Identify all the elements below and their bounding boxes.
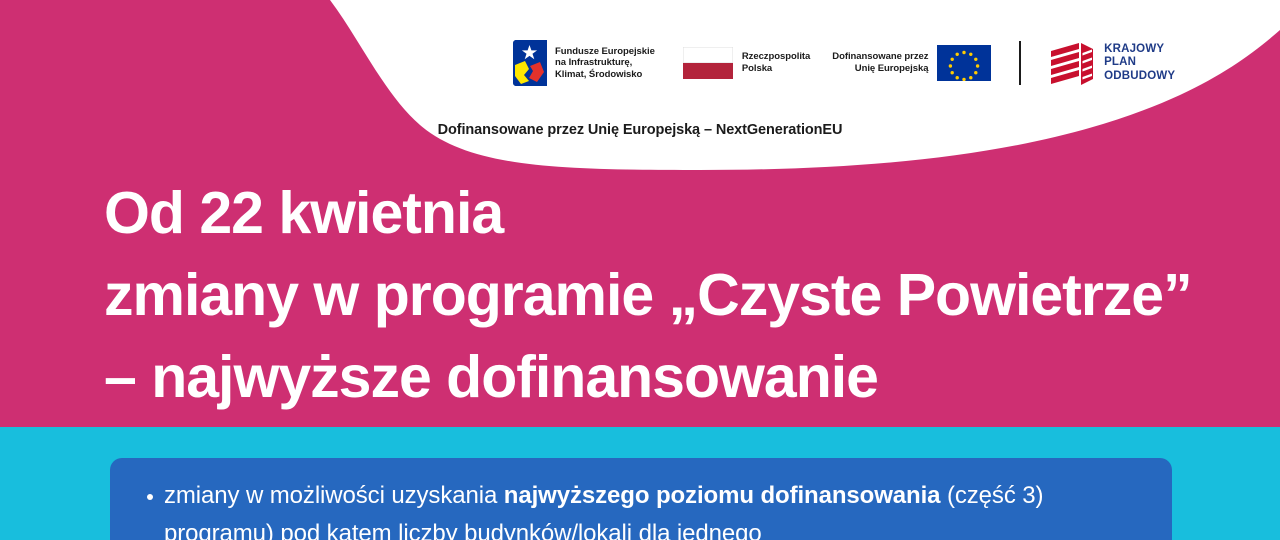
headline-line-2: zmiany w programie „Czyste Powietrze” xyxy=(104,254,1224,336)
polish-flag-icon xyxy=(683,47,733,79)
page-title: Od 22 kwietnia zmiany w programie „Czyst… xyxy=(104,172,1224,418)
bullet-card: zmiany w możliwości uzyskania najwyższeg… xyxy=(110,458,1172,540)
funding-caption: Dofinansowane przez Unię Europejską – Ne… xyxy=(0,122,1280,138)
funding-logo-strip: Fundusze Europejskie na Infrastrukturę, … xyxy=(513,36,1175,90)
logo-fundusze-europejskie-label: Fundusze Europejskie na Infrastrukturę, … xyxy=(555,46,655,81)
logo-divider xyxy=(1019,41,1021,85)
headline-line-1: Od 22 kwietnia xyxy=(104,172,1224,254)
logo-dofinansowane-przez-ue: Dofinansowane przez Unię Europejską xyxy=(832,45,991,81)
fundusze-europejskie-logo-icon xyxy=(513,40,547,86)
bullet-bold-text: najwyższego poziomu dofinansowania xyxy=(504,482,941,509)
eu-flag-icon xyxy=(937,45,991,81)
bullet-list: zmiany w możliwości uzyskania najwyższeg… xyxy=(138,477,1144,540)
krajowy-plan-odbudowy-logo-icon xyxy=(1049,41,1095,85)
logo-krajowy-plan-odbudowy-label: KRAJOWY PLAN ODBUDOWY xyxy=(1104,43,1175,84)
logo-rzeczpospolita-polska-label: Rzeczpospolita Polska xyxy=(742,51,810,74)
bullet-lead-text: zmiany w możliwości uzyskania xyxy=(164,482,504,509)
list-item: zmiany w możliwości uzyskania najwyższeg… xyxy=(138,477,1144,540)
poster-canvas: Fundusze Europejskie na Infrastrukturę, … xyxy=(0,0,1280,540)
logo-dofinansowane-przez-ue-label: Dofinansowane przez Unię Europejską xyxy=(832,51,928,74)
logo-rzeczpospolita-polska: Rzeczpospolita Polska xyxy=(683,47,810,79)
headline-line-3: – najwyższe dofinansowanie xyxy=(104,336,1224,418)
logo-krajowy-plan-odbudowy: KRAJOWY PLAN ODBUDOWY xyxy=(1049,41,1175,85)
logo-fundusze-europejskie: Fundusze Europejskie na Infrastrukturę, … xyxy=(513,40,655,86)
